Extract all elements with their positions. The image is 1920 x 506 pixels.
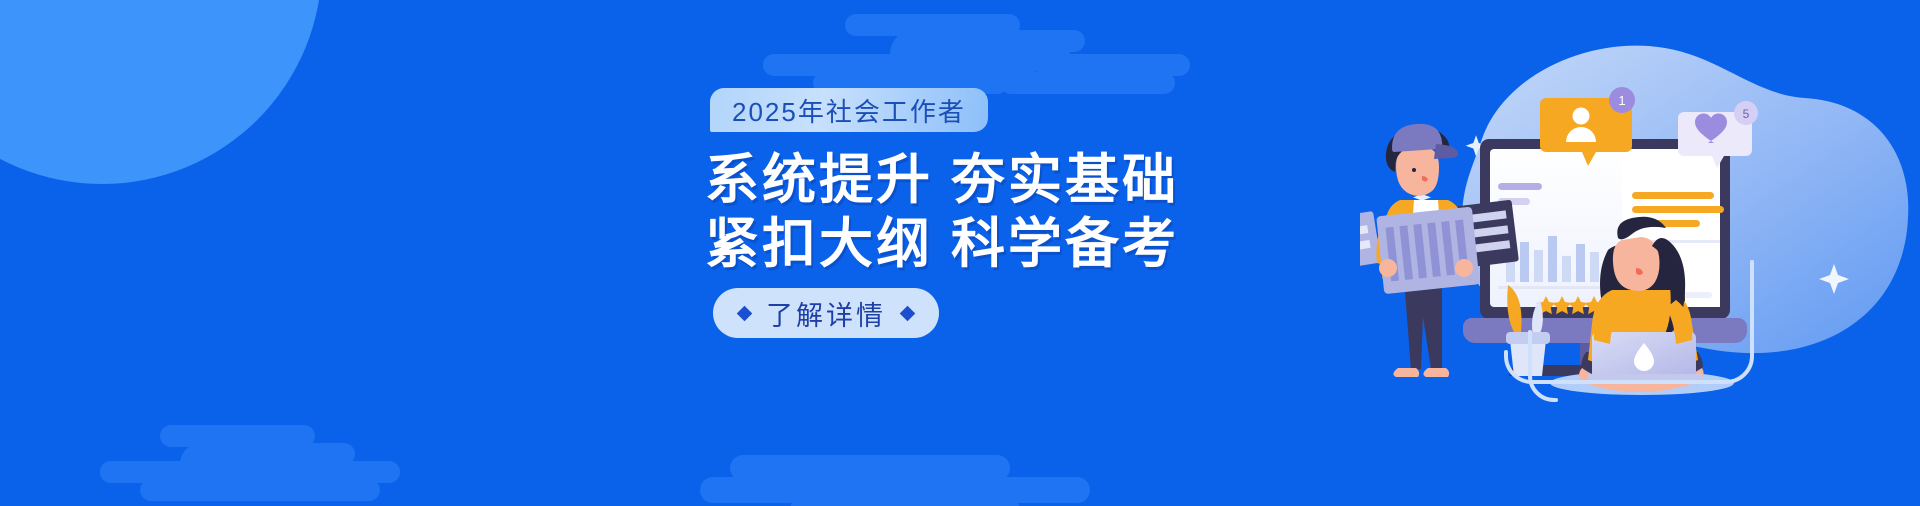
decorative-circle-top-left [0, 0, 322, 184]
online-learning-illustration: 1 5 [1360, 0, 1920, 506]
banner-content: 2025年社会工作者 系统提升 夯实基础 紧扣大纲 科学备考 了解详情 [705, 0, 1345, 506]
headline: 系统提升 夯实基础 紧扣大纲 科学备考 [705, 148, 1345, 276]
notification-heart-count: 5 [1743, 107, 1750, 121]
promo-banner: 2025年社会工作者 系统提升 夯实基础 紧扣大纲 科学备考 了解详情 [0, 0, 1920, 506]
course-year-badge: 2025年社会工作者 [710, 88, 988, 132]
learn-more-button-label: 了解详情 [766, 294, 886, 333]
headline-line-2: 紧扣大纲 科学备考 [705, 212, 1345, 276]
decorative-cloud-bottom-left [100, 425, 440, 506]
diamond-icon-left [737, 305, 753, 321]
headline-line-1: 系统提升 夯实基础 [705, 148, 1345, 212]
notification-user-count: 1 [1618, 93, 1625, 108]
learn-more-button[interactable]: 了解详情 [713, 288, 939, 338]
diamond-icon-right [900, 305, 916, 321]
course-year-badge-label: 2025年社会工作者 [732, 92, 966, 129]
